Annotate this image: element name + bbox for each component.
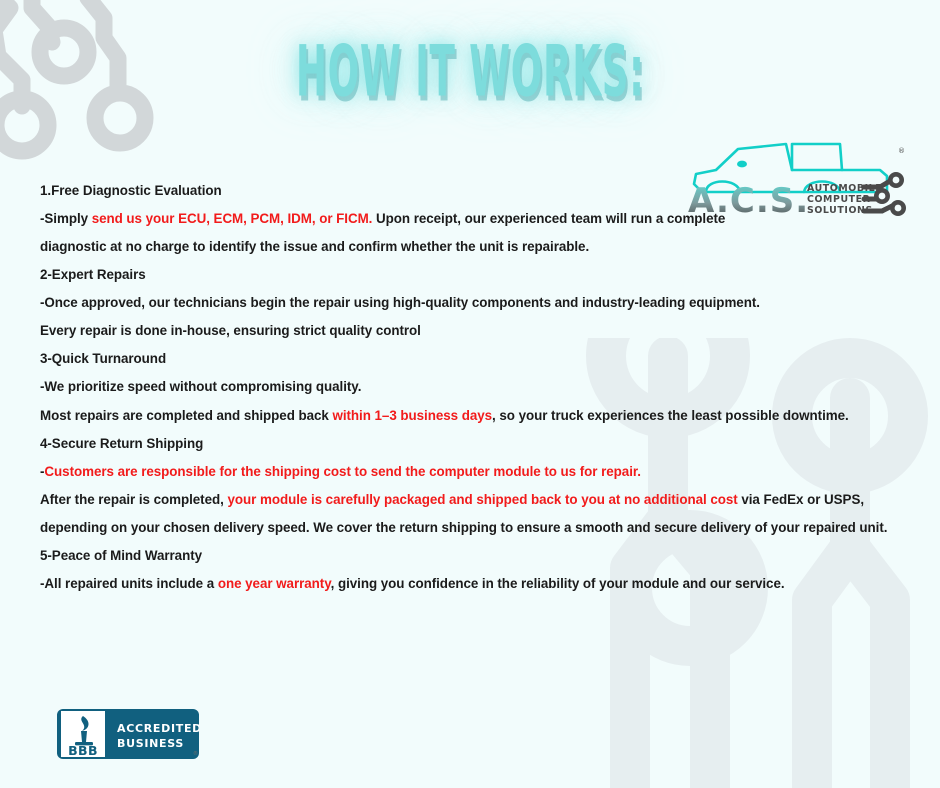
- step-1-line-2: diagnostic at no charge to identify the …: [40, 240, 910, 254]
- body-text: Upon receipt, our experienced team will …: [372, 211, 725, 226]
- bbb-registered-mark: ®: [193, 750, 198, 757]
- step-4-line-1: -Customers are responsible for the shipp…: [40, 465, 910, 479]
- acs-logo: ® A.C.S. AUTOMOBILE COMPUTER SOLUTIONS: [682, 136, 914, 220]
- bbb-accredited-business-badge[interactable]: BBB ACCREDITED BUSINESS ®: [57, 709, 199, 759]
- step-2-line-1: -Once approved, our technicians begin th…: [40, 296, 910, 310]
- highlighted-text: one year warranty: [218, 576, 331, 591]
- body-text: diagnostic at no charge to identify the …: [40, 239, 589, 254]
- body-text: Most repairs are completed and shipped b…: [40, 408, 332, 423]
- highlighted-text: within 1–3 business days: [332, 408, 492, 423]
- bbb-business-label: BUSINESS: [117, 737, 184, 750]
- step-3-line-1: -We prioritize speed without compromisin…: [40, 380, 910, 394]
- step-4-heading: 4-Secure Return Shipping: [40, 437, 910, 451]
- acs-brand-text: A.C.S.: [688, 181, 809, 220]
- body-text: After the repair is completed,: [40, 492, 227, 507]
- page-title: HOW IT WORKS:: [296, 37, 645, 108]
- bbb-initials: BBB: [68, 743, 98, 758]
- step-4-line-2: After the repair is completed, your modu…: [40, 493, 910, 507]
- step-3-heading: 3-Quick Turnaround: [40, 352, 910, 366]
- truck-mirror-icon: [737, 161, 747, 168]
- page-title-container: HOW IT WORKS:: [0, 42, 940, 102]
- step-3-line-2: Most repairs are completed and shipped b…: [40, 409, 910, 423]
- bbb-accredited-label: ACCREDITED: [117, 722, 199, 735]
- body-text: depending on your chosen delivery speed.…: [40, 520, 887, 535]
- registered-mark: ®: [898, 147, 905, 155]
- step-5-heading: 5-Peace of Mind Warranty: [40, 549, 910, 563]
- how-it-works-content: 1.Free Diagnostic Evaluation-Simply send…: [40, 184, 910, 605]
- step-4-line-3: depending on your chosen delivery speed.…: [40, 521, 910, 535]
- circuit-pad-icon: [0, 99, 48, 151]
- body-text: -Simply: [40, 211, 92, 226]
- step-2-line-2: Every repair is done in-house, ensuring …: [40, 324, 910, 338]
- body-text: -Once approved, our technicians begin th…: [40, 295, 760, 310]
- body-text: , giving you confidence in the reliabili…: [331, 576, 785, 591]
- step-2-heading: 2-Expert Repairs: [40, 268, 910, 282]
- body-text: -All repaired units include a: [40, 576, 218, 591]
- body-text: , so your truck experiences the least po…: [492, 408, 849, 423]
- highlighted-text: Customers are responsible for the shippi…: [44, 464, 641, 479]
- body-text: Every repair is done in-house, ensuring …: [40, 323, 421, 338]
- acs-tagline-line2: COMPUTER: [807, 194, 871, 205]
- highlighted-text: send us your ECU, ECM, PCM, IDM, or FICM…: [92, 211, 373, 226]
- highlighted-text: your module is carefully packaged and sh…: [227, 492, 737, 507]
- step-5-line-1: -All repaired units include a one year w…: [40, 577, 910, 591]
- body-text: via FedEx or USPS,: [738, 492, 864, 507]
- body-text: -We prioritize speed without compromisin…: [40, 379, 361, 394]
